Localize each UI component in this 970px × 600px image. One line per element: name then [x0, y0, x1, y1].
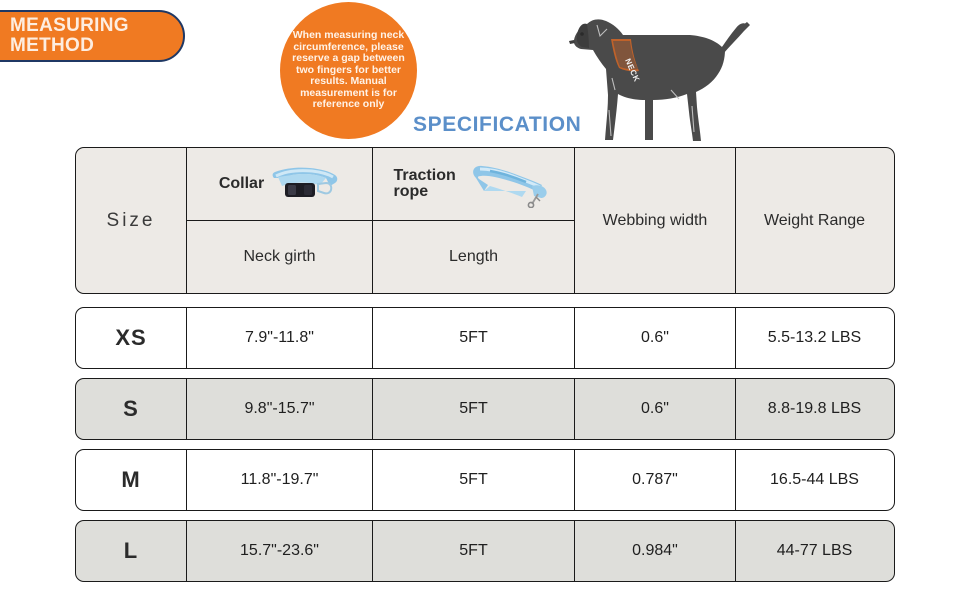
cell-size: XS — [76, 308, 187, 368]
size-value: L — [124, 538, 138, 564]
cell-neck-girth: 9.8"-15.7" — [187, 379, 373, 439]
header-traction-top: Traction rope — [373, 148, 574, 221]
webbing-width-value: 0.984" — [632, 542, 678, 560]
neck-girth-value: 11.8"-19.7" — [241, 471, 319, 489]
cell-length: 5FT — [373, 379, 575, 439]
header-label-length: Length — [449, 248, 498, 266]
neck-girth-value: 7.9"-11.8" — [245, 329, 314, 347]
webbing-width-value: 0.787" — [632, 471, 678, 489]
header-cell-weight-range: Weight Range — [736, 148, 893, 293]
measuring-tip-circle: When measuring neck circumference, pleas… — [280, 2, 417, 139]
webbing-width-value: 0.6" — [641, 400, 669, 418]
header-collar-top: Collar — [187, 148, 372, 221]
header-label-size: Size — [107, 210, 156, 232]
table-row: L 15.7"-23.6" 5FT 0.984" 44-77 LBS — [75, 520, 895, 582]
measuring-method-badge: MEASURING METHOD — [0, 10, 185, 62]
length-value: 5FT — [459, 400, 487, 418]
length-value: 5FT — [459, 329, 487, 347]
cell-neck-girth: 7.9"-11.8" — [187, 308, 373, 368]
header-traction-bottom: Length — [373, 221, 574, 294]
cell-length: 5FT — [373, 450, 575, 510]
cell-weight-range: 5.5-13.2 LBS — [736, 308, 893, 368]
length-value: 5FT — [459, 542, 487, 560]
traction-rope-product-icon — [468, 160, 554, 208]
dog-illustration: NECK — [553, 0, 758, 148]
table-row: M 11.8"-19.7" 5FT 0.787" 16.5-44 LBS — [75, 449, 895, 511]
badge-line-2: METHOD — [10, 36, 129, 56]
header-cell-size: Size — [76, 148, 187, 293]
cell-size: L — [76, 521, 187, 581]
header-cell-webbing-width: Webbing width — [575, 148, 736, 293]
cell-webbing-width: 0.6" — [575, 379, 736, 439]
header-label-traction-rope: Traction rope — [394, 168, 464, 200]
weight-range-value: 44-77 LBS — [777, 542, 853, 560]
webbing-width-value: 0.6" — [641, 329, 669, 347]
weight-range-value: 16.5-44 LBS — [770, 471, 859, 489]
cell-weight-range: 16.5-44 LBS — [736, 450, 893, 510]
cell-weight-range: 44-77 LBS — [736, 521, 893, 581]
cell-size: S — [76, 379, 187, 439]
cell-length: 5FT — [373, 521, 575, 581]
header-collar-bottom: Neck girth — [187, 221, 372, 294]
header-cell-traction: Traction rope Length — [373, 148, 575, 293]
size-value: XS — [115, 325, 146, 351]
measuring-method-badge-text: MEASURING METHOD — [10, 16, 129, 56]
table-row: XS 7.9"-11.8" 5FT 0.6" 5.5-13.2 LBS — [75, 307, 895, 369]
badge-line-1: MEASURING — [10, 16, 129, 36]
cell-webbing-width: 0.984" — [575, 521, 736, 581]
weight-range-value: 8.8-19.8 LBS — [768, 400, 861, 418]
neck-girth-value: 9.8"-15.7" — [244, 400, 314, 418]
weight-range-value: 5.5-13.2 LBS — [768, 329, 861, 347]
cell-webbing-width: 0.6" — [575, 308, 736, 368]
header-label-weight-range: Weight Range — [764, 212, 865, 230]
cell-size: M — [76, 450, 187, 510]
header-label-collar: Collar — [219, 176, 264, 192]
cell-length: 5FT — [373, 308, 575, 368]
size-value: S — [123, 396, 139, 422]
cell-weight-range: 8.8-19.8 LBS — [736, 379, 893, 439]
header-cell-collar: Collar Neck girth — [187, 148, 373, 293]
header-label-neck-girth: Neck girth — [243, 248, 315, 266]
header-label-webbing-width: Webbing width — [603, 212, 708, 230]
collar-product-icon — [268, 164, 340, 204]
table-row: S 9.8"-15.7" 5FT 0.6" 8.8-19.8 LBS — [75, 378, 895, 440]
measuring-tip-text: When measuring neck circumference, pleas… — [289, 30, 408, 111]
cell-neck-girth: 15.7"-23.6" — [187, 521, 373, 581]
cell-neck-girth: 11.8"-19.7" — [187, 450, 373, 510]
size-value: M — [121, 467, 140, 493]
table-header-row: Size Collar Neck girth T — [75, 147, 895, 294]
neck-girth-value: 15.7"-23.6" — [240, 542, 319, 560]
length-value: 5FT — [459, 471, 487, 489]
cell-webbing-width: 0.787" — [575, 450, 736, 510]
specification-table: Size Collar Neck girth T — [75, 147, 895, 582]
